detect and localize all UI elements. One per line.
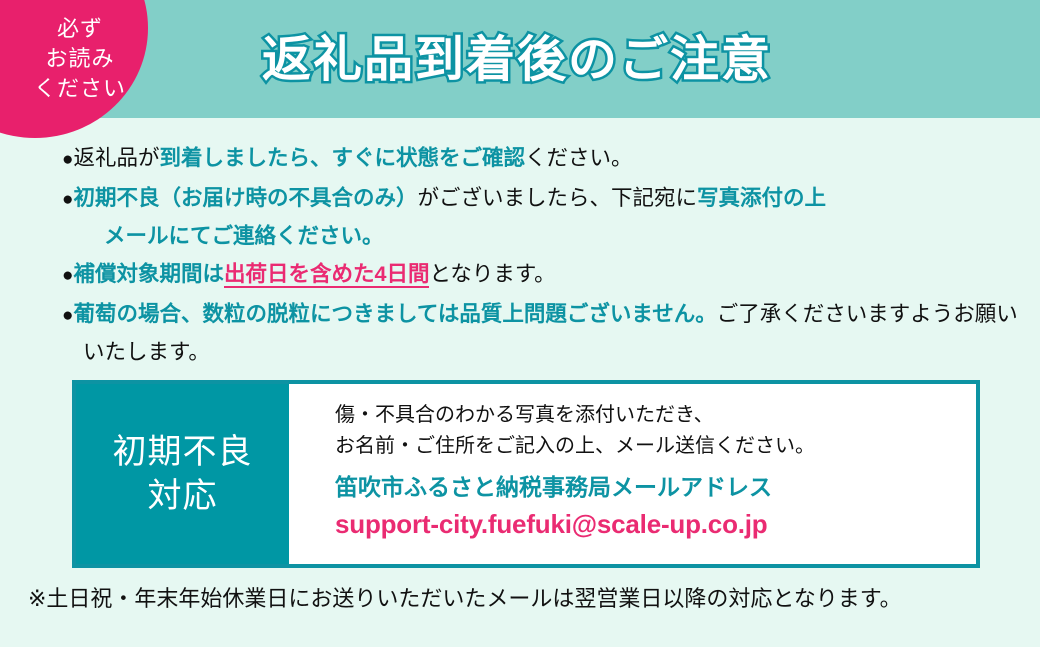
defect-support-label-line-1: 初期不良 xyxy=(113,430,253,474)
bullet-marker-icon: ● xyxy=(62,149,73,170)
bullet-1-segment-2: 到着しましたら、すぐに状態をご確認 xyxy=(160,146,526,170)
must-read-badge-text: 必ず お読み ください xyxy=(10,14,150,104)
bullet-1-segment-1: 返礼品が xyxy=(73,146,159,170)
bullet-marker-icon: ● xyxy=(62,189,73,210)
bullet-item-grapes: ●葡萄の場合、数粒の脱粒につきましては品質上問題ございません。ご了承くださいます… xyxy=(62,296,1022,370)
bullet-item-arrival: ●返礼品が到着しましたら、すぐに状態をご確認ください。 xyxy=(62,140,1022,178)
office-email-label: 笛吹市ふるさと納税事務局メールアドレス xyxy=(335,471,976,504)
instruction-line-2: お名前・ご住所をご記入の上、メール送信ください。 xyxy=(335,431,976,462)
defect-support-label-cell: 初期不良 対応 xyxy=(76,384,289,564)
bullet-2-segment-4: メールにてご連絡ください。 xyxy=(83,224,384,248)
defect-support-body-cell: 傷・不具合のわかる写真を添付いただき、 お名前・ご住所をご記入の上、メール送信く… xyxy=(289,384,976,564)
support-email-address[interactable]: support-city.fuefuki@scale-up.co.jp xyxy=(335,506,976,542)
badge-line-2: お読み xyxy=(10,44,150,74)
bullet-3-segment-1: 補償対象期間は xyxy=(73,262,224,286)
bullet-marker-icon: ● xyxy=(62,265,73,286)
bullet-2-segment-1: 初期不良（お届け時の不具合のみ） xyxy=(73,186,417,210)
page-title: 返礼品到着後のご注意 xyxy=(262,20,982,91)
defect-support-box: 初期不良 対応 傷・不具合のわかる写真を添付いただき、 お名前・ご住所をご記入の… xyxy=(72,380,980,568)
bullet-3-highlight: 出荷日を含めた4日間 xyxy=(224,262,429,288)
bullet-1-segment-3: ください。 xyxy=(525,146,633,170)
footer-note: ※土日祝・年末年始休業日にお送りいただいたメールは翌営業日以降の対応となります。 xyxy=(28,584,1028,614)
badge-line-1: 必ず xyxy=(10,14,150,44)
bullet-2-segment-2: がございましたら、下記宛に xyxy=(418,186,698,210)
bullet-2-segment-3: 写真添付の上 xyxy=(697,186,826,210)
bullet-item-defect: ●初期不良（お届け時の不具合のみ）がございましたら、下記宛に写真添付の上メールに… xyxy=(62,180,1022,254)
bullet-4-segment-1: 葡萄の場合、数粒の脱粒につきましては品質上問題ございません。 xyxy=(73,302,716,326)
bullet-3-segment-3: となります。 xyxy=(429,262,555,286)
defect-support-label-line-2: 対応 xyxy=(148,474,218,518)
instruction-line-1: 傷・不具合のわかる写真を添付いただき、 xyxy=(335,400,976,431)
bullet-item-coverage-period: ●補償対象期間は出荷日を含めた4日間となります。 xyxy=(62,256,1022,294)
bullet-marker-icon: ● xyxy=(62,305,73,326)
badge-line-3: ください xyxy=(10,74,150,104)
notice-bullet-list: ●返礼品が到着しましたら、すぐに状態をご確認ください。 ●初期不良（お届け時の不… xyxy=(62,140,1022,372)
